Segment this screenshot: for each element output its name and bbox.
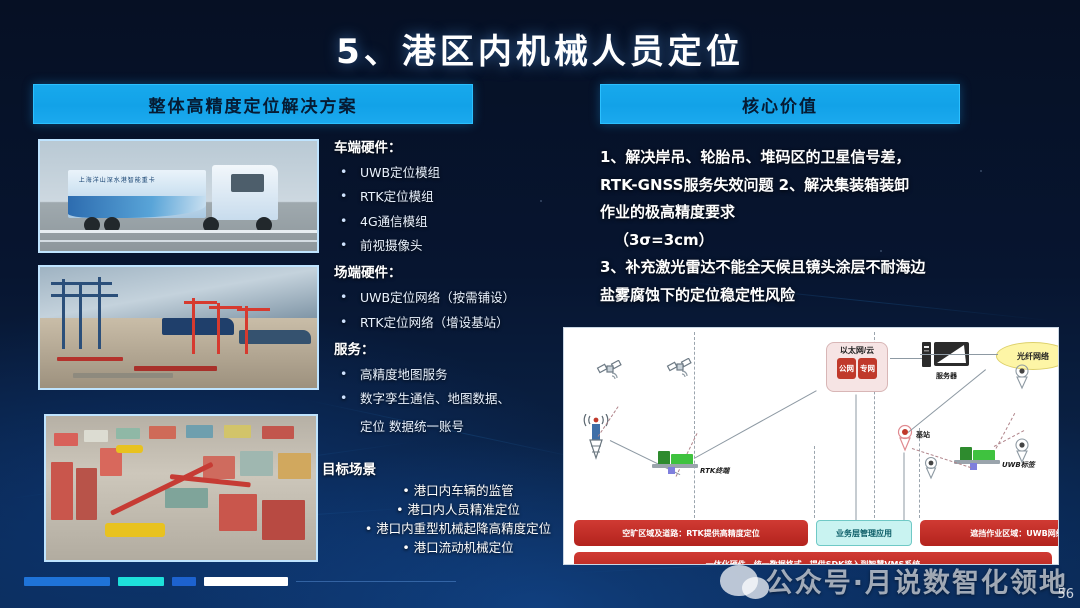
base-station-label: 基站	[916, 430, 930, 440]
server-to-cloud-link	[890, 358, 922, 359]
container-yard-reachstacker-photo	[44, 414, 318, 562]
ethernet-cloud: 以太网/云 公网 专网	[826, 342, 888, 392]
uwb-anchor-icon-bottom	[922, 456, 940, 480]
watermark-text: 公众号·月说数智化领地	[766, 561, 1068, 600]
list-item: 前视摄像头	[334, 236, 586, 255]
section-header-right: 核心价值	[600, 84, 960, 124]
list-item: 港口流动机械定位	[322, 539, 594, 558]
slide-root: 5、港区内机械人员定位 整体高精度定位解决方案 核心价值 上海洋山深水港智能重卡	[0, 0, 1080, 608]
target-scenarios-block: 目标场景 港口内车辆的监管 港口内人员精准定位 港口内重型机械起降高精度定位 港…	[322, 460, 594, 557]
group-list-vehicle: UWB定位模组 RTK定位模组 4G通信模组 前视摄像头	[334, 163, 586, 256]
zone-divider-mid	[814, 446, 815, 518]
list-item: 高精度地图服务	[334, 365, 586, 384]
group-heading-field: 场端硬件：	[334, 263, 586, 284]
list-item: 港口内车辆的监管	[322, 482, 594, 501]
private-network-chip: 专网	[858, 358, 877, 379]
value-line-1: 1、解决岸吊、轮胎吊、堆码区的卫星信号差，	[600, 145, 980, 171]
zone-bar-business-layer: 业务层管理应用	[816, 520, 912, 546]
rtk-terminal-machine	[652, 440, 704, 474]
list-item: 港口内人员精准定位	[322, 501, 594, 520]
zone-bar-open-area: 空旷区域及道路：RTK提供高精度定位	[574, 520, 808, 546]
satellite-icon-2	[666, 358, 700, 388]
uwb-anchor-icon-top	[1012, 364, 1032, 390]
zone-bar-obstructed-area: 遮挡作业区域：UWB网络高精度定位	[920, 520, 1059, 546]
list-item: UWB定位网络（按需铺设）	[334, 288, 586, 307]
target-scenarios-heading: 目标场景	[322, 460, 594, 480]
section-header-left: 整体高精度定位解决方案	[33, 84, 473, 124]
progress-rail	[296, 581, 456, 582]
cloud-feed-arrow	[856, 395, 857, 525]
core-value-text: 1、解决岸吊、轮胎吊、堆码区的卫星信号差， RTK-GNSS服务失效问题 2、解…	[600, 145, 980, 310]
list-item: 港口内重型机械起降高精度定位	[322, 520, 594, 539]
group-list-field: UWB定位网络（按需铺设） RTK定位网络（增设基站）	[334, 288, 586, 332]
progress-chip-2[interactable]	[118, 577, 164, 586]
basestation-feed-arrow	[904, 453, 905, 523]
container-port-cranes-photo	[38, 265, 319, 390]
value-line-3: 作业的极高精度要求	[600, 200, 980, 226]
left-solution-text: 车端硬件： UWB定位模组 RTK定位模组 4G通信模组 前视摄像头 场端硬件：…	[334, 138, 586, 444]
cloud-title: 以太网/云	[840, 345, 874, 356]
value-line-5: 盐雾腐蚀下的定位稳定性风险	[600, 283, 980, 309]
service-continuation: 定位 数据统一账号	[334, 417, 586, 436]
group-heading-service: 服务：	[334, 340, 586, 361]
list-item: 4G通信模组	[334, 212, 586, 231]
progress-chip-1[interactable]	[24, 577, 110, 586]
list-item: 数字孪生通信、地图数据、	[334, 389, 586, 408]
page-number: 56	[1057, 587, 1074, 602]
list-item: RTK定位模组	[334, 187, 586, 206]
slide-title: 5、港区内机械人员定位	[0, 24, 1080, 73]
list-item: RTK定位网络（增设基站）	[334, 313, 586, 332]
zone-divider-far-right	[919, 428, 920, 518]
progress-chip-3[interactable]	[172, 577, 196, 586]
value-line-4: 3、补充激光雷达不能全天候且镜头涂层不耐海边	[600, 255, 980, 281]
wechat-icon	[720, 565, 758, 596]
rtk-terminal-label: RTK终端	[700, 466, 729, 476]
list-item: UWB定位模组	[334, 163, 586, 182]
watermark: 公众号·月说数智化领地	[720, 561, 1068, 600]
value-line-2: RTK-GNSS服务失效问题 2、解决集装箱装卸	[600, 173, 980, 199]
autonomous-truck-photo: 上海洋山深水港智能重卡	[38, 139, 319, 253]
group-heading-vehicle: 车端硬件：	[334, 138, 586, 159]
value-line-precision: （3σ=3cm）	[600, 228, 980, 254]
uwb-tag-label: UWB标签	[1002, 460, 1035, 470]
fiber-label: 光纤网络	[1017, 351, 1049, 362]
server-label: 服务器	[936, 371, 957, 381]
tower-to-cloud-link	[694, 390, 817, 459]
positioning-architecture-diagram: 以太网/云 公网 专网 服务器 光纤网络 基站	[563, 327, 1059, 565]
server-icon	[922, 340, 970, 370]
fiber-to-server-link	[920, 354, 998, 355]
public-network-chip: 公网	[837, 358, 856, 379]
group-list-service: 高精度地图服务 数字孪生通信、地图数据、	[334, 365, 586, 409]
progress-chip-4[interactable]	[204, 577, 288, 586]
satellite-icon-1	[596, 360, 630, 390]
truck-banner-text: 上海洋山深水港智能重卡	[79, 175, 156, 184]
